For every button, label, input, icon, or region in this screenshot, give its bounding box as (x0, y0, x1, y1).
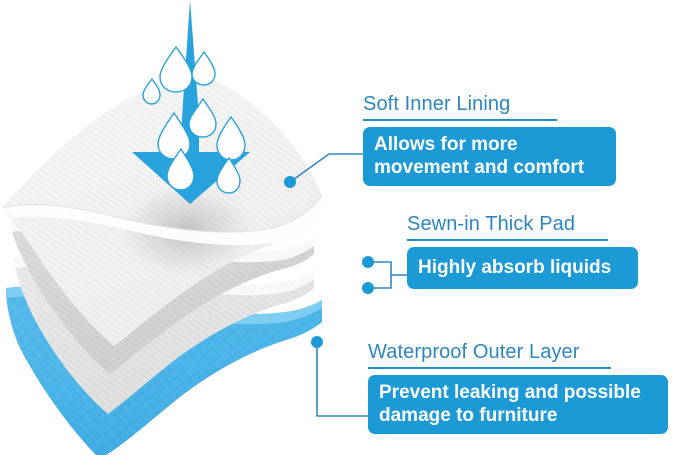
callout-body-line: Prevent leaking and possible (379, 381, 657, 404)
callout-sewn-in-thick-pad: Sewn-in Thick Pad Highly absorb liquids (407, 212, 638, 289)
callout-soft-inner-lining: Soft Inner Lining Allows for more moveme… (363, 92, 616, 186)
callout-heading: Soft Inner Lining (363, 92, 616, 116)
callout-body-line: Allows for more (374, 133, 605, 156)
water-droplet-icon (192, 52, 215, 85)
connector-dot (362, 256, 374, 268)
callout-body-line: damage to furniture (379, 404, 657, 427)
callout-waterproof-outer-layer: Waterproof Outer Layer Prevent leaking a… (368, 340, 668, 434)
callout-underline (363, 119, 557, 121)
water-droplet-icon (143, 79, 160, 104)
callout-body-line: Highly absorb liquids (418, 256, 627, 279)
connector-dot (311, 336, 323, 348)
connector-sewn-in-thick-pad (362, 256, 409, 294)
connector-dot (284, 176, 296, 188)
callout-body-box: Prevent leaking and possible damage to f… (368, 375, 668, 434)
callout-underline (368, 367, 611, 369)
callout-body-box: Allows for more movement and comfort (363, 127, 616, 186)
callout-heading: Waterproof Outer Layer (368, 340, 668, 364)
callout-body-line: movement and comfort (374, 156, 605, 179)
callout-underline (407, 239, 608, 241)
layer-construction-infographic: Soft Inner Lining Allows for more moveme… (0, 0, 679, 456)
connector-dot (362, 282, 374, 294)
callout-heading: Sewn-in Thick Pad (407, 212, 638, 236)
connector-waterproof-outer-layer (311, 336, 368, 416)
callout-body-box: Highly absorb liquids (407, 247, 638, 289)
